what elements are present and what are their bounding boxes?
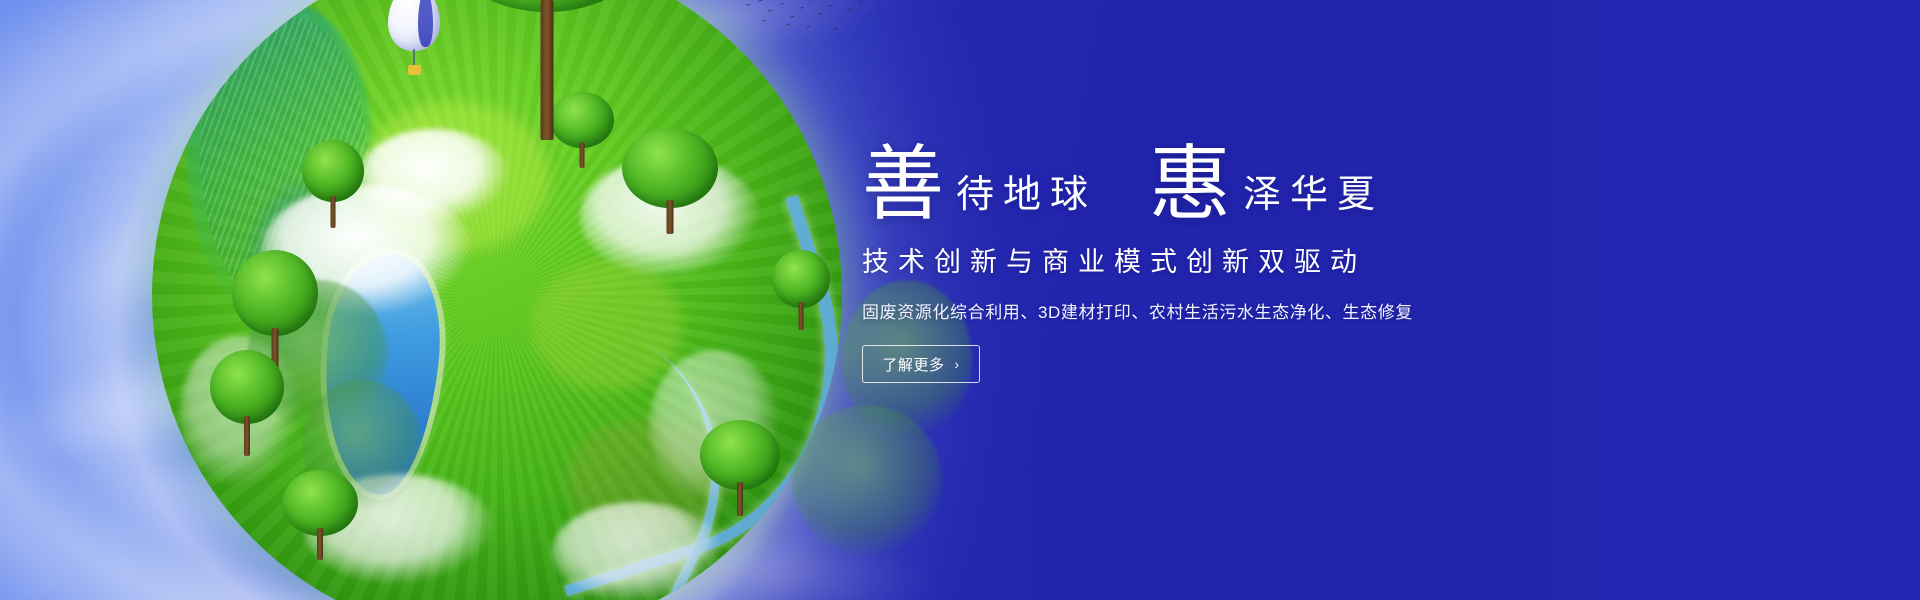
hero-banner: 善 待地球 惠 泽华夏 技术创新与商业模式创新双驱动 固废资源化综合利用、3D建… <box>0 0 1920 600</box>
earth-illustration <box>152 0 842 600</box>
headline-char-primary-1: 善 <box>862 146 944 224</box>
headline-text-1: 待地球 <box>944 176 1097 224</box>
tree <box>700 420 780 490</box>
headline-char-primary-2: 惠 <box>1149 146 1231 224</box>
subtitle: 技术创新与商业模式创新双驱动 <box>862 240 1842 279</box>
tree <box>210 350 284 424</box>
tree <box>302 140 364 202</box>
tree-hero <box>452 0 642 12</box>
description: 固废资源化综合利用、3D建材打印、农村生活污水生态净化、生态修复 <box>862 298 1842 323</box>
hot-air-balloon-icon <box>388 0 440 77</box>
tree <box>282 470 358 536</box>
tree <box>622 128 718 208</box>
bird-flock-icon <box>742 0 882 46</box>
page-title: 善 待地球 惠 泽华夏 <box>862 128 1842 224</box>
tree <box>550 92 614 148</box>
headline-text-2: 泽华夏 <box>1231 176 1384 224</box>
chevron-right-icon: › <box>954 356 959 372</box>
learn-more-label: 了解更多 <box>882 354 944 375</box>
hero-content: 善 待地球 惠 泽华夏 技术创新与商业模式创新双驱动 固废资源化综合利用、3D建… <box>862 128 1842 383</box>
tree <box>772 250 830 308</box>
silhouette-tree <box>792 405 942 555</box>
tree <box>232 250 318 336</box>
learn-more-button[interactable]: 了解更多 › <box>862 345 980 383</box>
